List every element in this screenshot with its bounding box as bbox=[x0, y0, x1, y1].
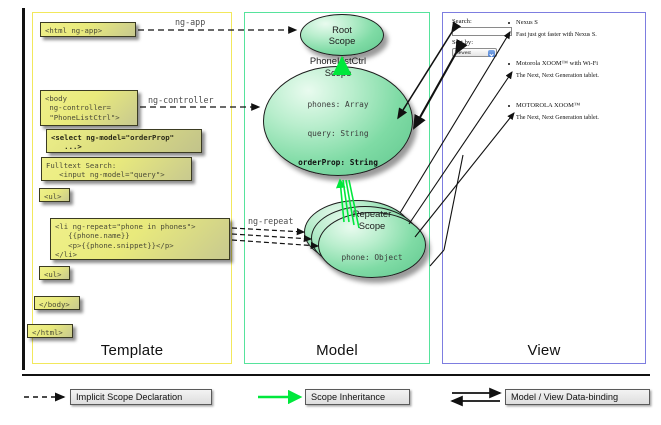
phonelistctrl-scope-title: PhoneListCtrl Scope bbox=[310, 55, 366, 78]
repeater-scope: Repeater Scope phone: Object bbox=[318, 212, 426, 278]
phonelistctrl-scope: PhoneListCtrl Scope phones: Array query:… bbox=[263, 66, 413, 176]
root-scope-title-line1: Root bbox=[332, 24, 352, 35]
legend-model-view-data-binding: Model / View Data-binding bbox=[505, 389, 650, 405]
ng-app-edge-label: ng-app bbox=[173, 17, 207, 27]
body-close-box: </body> bbox=[34, 296, 80, 310]
ul-open-box: <ul> bbox=[39, 188, 70, 202]
legend-implicit-scope-declaration: Implicit Scope Declaration bbox=[70, 389, 212, 405]
sort-by-select[interactable]: Newest bbox=[452, 48, 497, 57]
phone-snippet: Fast just got faster with Nexus S. bbox=[516, 32, 597, 38]
phonelistctrl-scope-props: phones: Array query: String orderProp: S… bbox=[298, 81, 378, 187]
ul-close-box: <ul> bbox=[39, 266, 70, 280]
legend-label: Implicit Scope Declaration bbox=[76, 392, 182, 402]
phone-name: Nexus S bbox=[516, 19, 538, 26]
root-scope-title-line2: Scope bbox=[329, 35, 356, 46]
sort-by-selected-value: Newest bbox=[455, 50, 471, 56]
html-close-box: </html> bbox=[27, 324, 73, 338]
body-controller-box: <body ng-controller= "PhoneListCtrl"> bbox=[40, 90, 138, 126]
repeater-scope-props: phone: Object bbox=[341, 234, 402, 282]
column-label-model: Model bbox=[245, 342, 429, 359]
html-tag-box: <html ng-app> bbox=[40, 22, 136, 37]
phone-snippet: The Next, Next Generation tablet. bbox=[516, 73, 599, 79]
repeater-scope-title-line1: Repeater bbox=[353, 208, 392, 219]
ng-controller-edge-label: ng-controller bbox=[146, 95, 216, 105]
phone-name: MOTOROLA XOOM™ bbox=[516, 102, 580, 109]
figure-left-rule bbox=[22, 8, 25, 370]
legend-divider bbox=[22, 374, 650, 376]
legend-label: Scope Inheritance bbox=[311, 392, 385, 402]
repeater-scope-title: Repeater Scope bbox=[353, 208, 392, 231]
scope-prop-orderprop: orderProp: String bbox=[298, 158, 378, 168]
ng-repeat-edge-label: ng-repeat bbox=[246, 216, 295, 226]
phone-snippet: The Next, Next Generation tablet. bbox=[516, 115, 599, 121]
scope-prop-query: query: String bbox=[298, 129, 378, 139]
phonelistctrl-scope-title-line1: PhoneListCtrl bbox=[310, 55, 366, 66]
root-scope: Root Scope bbox=[300, 14, 384, 56]
legend-label: Model / View Data-binding bbox=[511, 392, 618, 402]
legend-scope-inheritance: Scope Inheritance bbox=[305, 389, 410, 405]
search-input[interactable] bbox=[452, 27, 512, 36]
repeater-scope-title-line2: Scope bbox=[359, 220, 386, 231]
fulltext-search-box: Fulltext Search: <input ng-model="query"… bbox=[41, 157, 192, 181]
root-scope-title: Root Scope bbox=[329, 24, 356, 47]
diagram-canvas: Template Model View <html ng-app> <body … bbox=[0, 0, 661, 425]
chevron-down-icon bbox=[488, 50, 495, 57]
select-orderprop-box: <select ng-model="orderProp" ...> bbox=[46, 129, 202, 153]
search-label: Search: bbox=[452, 18, 472, 25]
phonelistctrl-scope-title-line2: Scope bbox=[325, 67, 352, 78]
phone-name: Motorola XOOM™ with Wi-Fi bbox=[516, 60, 598, 67]
legend-glyph-double-arrow bbox=[452, 393, 500, 401]
view-panel: Search: Sort by: Newest Nexus S Fast jus… bbox=[452, 18, 638, 348]
scope-prop-phones: phones: Array bbox=[298, 100, 378, 110]
sort-by-label: Sort by: bbox=[452, 39, 473, 46]
li-ng-repeat-box: <li ng-repeat="phone in phones"> {{phone… bbox=[50, 218, 230, 260]
bullet-icon bbox=[508, 63, 510, 65]
column-label-template: Template bbox=[33, 342, 231, 359]
scope-prop-phone: phone: Object bbox=[341, 253, 402, 263]
bullet-icon bbox=[508, 22, 510, 24]
bullet-icon bbox=[508, 105, 510, 107]
